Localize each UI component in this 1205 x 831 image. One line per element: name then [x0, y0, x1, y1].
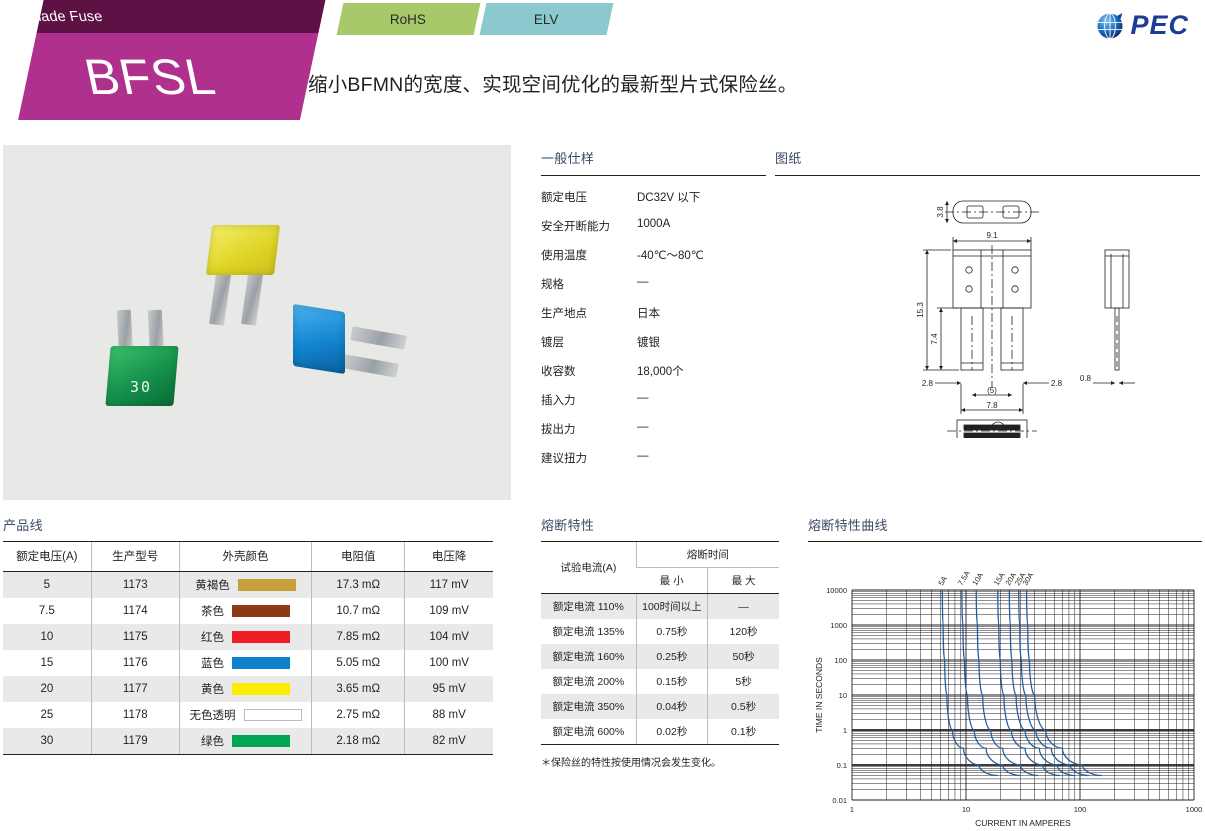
cell-min: 0.25秒: [636, 644, 707, 669]
cell-amp: 7.5: [3, 598, 91, 624]
cell-model: 1176: [91, 650, 179, 676]
fusing-title: 熔断特性: [541, 515, 779, 534]
spec-key: 镀层: [541, 334, 637, 350]
color-name: 无色透明: [190, 707, 236, 723]
fusing-thead: 试验电流(A) 熔断时间 最 小 最 大: [541, 542, 779, 594]
spec-row: 镀层 镀银: [541, 334, 766, 350]
spec-row: 插入力 —: [541, 392, 766, 408]
cell-min: 0.75秒: [636, 619, 707, 644]
table-row: 额定电流 200% 0.15秒 5秒: [541, 669, 779, 694]
technical-drawing: 图纸 3.8 9.1: [775, 148, 1200, 443]
cell-model: 1177: [91, 676, 179, 702]
spec-row: 生产地点 日本: [541, 305, 766, 321]
logo-text: PEC: [1130, 10, 1189, 41]
curve-rule: [808, 541, 1202, 542]
spec-value: -40℃～80℃: [637, 247, 704, 263]
product-photo: 30: [3, 145, 511, 500]
color-swatch: [232, 657, 290, 669]
dim-total-height: 15.3: [916, 302, 925, 318]
svg-text:100: 100: [834, 656, 847, 665]
spec-value: 18,000个: [637, 363, 684, 379]
svg-text:1: 1: [850, 805, 854, 814]
spec-row: 使用温度 -40℃～80℃: [541, 247, 766, 263]
product-line-tbody: 5 1173 黄褐色 17.3 mΩ 117 mV 7.5 1174 茶色 10…: [3, 572, 493, 755]
cell-current: 额定电流 110%: [541, 594, 636, 620]
yellow-fuse-leg-left: [209, 266, 232, 326]
spec-row: 拔出力 —: [541, 421, 766, 437]
table-row: 30 1179 绿色 2.18 mΩ 82 mV: [3, 728, 493, 755]
svg-text:7.5A: 7.5A: [956, 569, 972, 587]
table-row: 5 1173 黄褐色 17.3 mΩ 117 mV: [3, 572, 493, 599]
spec-value: —: [637, 421, 649, 437]
col-max: 最 大: [708, 568, 779, 594]
dim-leg-offset-left: 2.8: [922, 379, 934, 388]
spec-key: 使用温度: [541, 247, 637, 263]
green-fuse-body: [105, 346, 178, 406]
spec-key: 建议扭力: [541, 450, 637, 466]
cell-drop: 95 mV: [405, 676, 493, 702]
cell-color: 无色透明: [179, 702, 311, 728]
cell-model: 1175: [91, 624, 179, 650]
dim-leg-height: 7.4: [930, 333, 939, 345]
spec-key: 额定电压: [541, 189, 637, 205]
table-row: 额定电流 110% 100时间以上 —: [541, 594, 779, 620]
color-name: 黄褐色: [195, 577, 230, 593]
table-row: 20 1177 黄色 3.65 mΩ 95 mV: [3, 676, 493, 702]
spec-value: 镀银: [637, 334, 660, 350]
svg-text:10: 10: [962, 805, 970, 814]
cell-model: 1179: [91, 728, 179, 755]
cell-drop: 88 mV: [405, 702, 493, 728]
product-line-table: 额定电压(A) 生产型号 外壳颜色 电阻值 电压降 5 1173 黄褐色 17.…: [3, 542, 493, 755]
general-specifications: 一般仕样 额定电压 DC32V 以下 安全开断能力 1000A 使用温度 -40…: [541, 148, 766, 466]
specs-list: 额定电压 DC32V 以下 安全开断能力 1000A 使用温度 -40℃～80℃…: [541, 189, 766, 466]
col-color: 外壳颜色: [179, 542, 311, 572]
datasheet-page: Blade Fuse BFSL RoHS ELV 缩小BFMN的宽度、实现空间优…: [0, 0, 1205, 831]
cell-drop: 117 mV: [405, 572, 493, 599]
drawing-title: 图纸: [775, 148, 1200, 167]
badge-elv: ELV: [480, 3, 614, 35]
cell-max: 50秒: [708, 644, 779, 669]
dim-leg-offset-right: 2.8: [1051, 379, 1063, 388]
table-header-row: 额定电压(A) 生产型号 外壳颜色 电阻值 电压降: [3, 542, 493, 572]
yellow-fuse-leg-right: [241, 266, 264, 326]
badge-rohs: RoHS: [337, 3, 481, 35]
svg-text:0.1: 0.1: [837, 761, 847, 770]
fusing-table: 试验电流(A) 熔断时间 最 小 最 大 额定电流 110% 100时间以上 —…: [541, 542, 779, 745]
cell-resistance: 10.7 mΩ: [312, 598, 405, 624]
cell-current: 额定电流 350%: [541, 694, 636, 719]
svg-text:CURRENT IN AMPERES: CURRENT IN AMPERES: [975, 818, 1071, 828]
color-name: 绿色: [201, 733, 224, 749]
col-amp: 额定电压(A): [3, 542, 91, 572]
cell-max: 0.5秒: [708, 694, 779, 719]
table-row: 25 1178 无色透明 2.75 mΩ 88 mV: [3, 702, 493, 728]
svg-text:5A: 5A: [936, 574, 949, 587]
dim-thickness: 0.8: [1080, 374, 1092, 383]
table-row: 15 1176 蓝色 5.05 mΩ 100 mV: [3, 650, 493, 676]
cell-resistance: 2.75 mΩ: [312, 702, 405, 728]
spec-value: —: [637, 450, 649, 466]
col-min: 最 小: [636, 568, 707, 594]
blue-fuse-leg-lower: [342, 354, 399, 377]
badge-elv-label: ELV: [534, 12, 559, 27]
cell-min: 0.02秒: [636, 719, 707, 745]
spec-key: 拔出力: [541, 421, 637, 437]
table-row: 额定电流 135% 0.75秒 120秒: [541, 619, 779, 644]
drawing-svg: 3.8 9.1: [775, 188, 1200, 438]
svg-text:0.01: 0.01: [832, 796, 847, 805]
cell-drop: 109 mV: [405, 598, 493, 624]
svg-text:10: 10: [839, 691, 847, 700]
badge-rohs-label: RoHS: [390, 12, 426, 27]
col-drop: 电压降: [405, 542, 493, 572]
fusing-note: ＊保险丝的特性按使用情况会发生变化。: [541, 754, 779, 769]
color-name: 茶色: [201, 603, 224, 619]
drawing-rule: [775, 175, 1200, 176]
page-header: Blade Fuse BFSL RoHS ELV 缩小BFMN的宽度、实现空间优…: [0, 0, 1205, 122]
cell-max: 5秒: [708, 669, 779, 694]
spec-value: DC32V 以下: [637, 189, 700, 205]
cell-max: 120秒: [708, 619, 779, 644]
color-name: 黄色: [201, 681, 224, 697]
fusing-characteristics-section: 熔断特性 试验电流(A) 熔断时间 最 小 最 大 额定电流 110% 100时…: [541, 515, 779, 769]
cell-current: 额定电流 200%: [541, 669, 636, 694]
cell-amp: 10: [3, 624, 91, 650]
cell-drop: 100 mV: [405, 650, 493, 676]
cell-color: 茶色: [179, 598, 311, 624]
cell-min: 0.15秒: [636, 669, 707, 694]
yellow-fuse-body: [206, 225, 280, 275]
product-line-section: 产品线 额定电压(A) 生产型号 外壳颜色 电阻值 电压降 5 1173 黄褐色…: [3, 515, 493, 755]
cell-model: 1173: [91, 572, 179, 599]
banner-kicker: Blade Fuse: [0, 0, 286, 33]
table-header-row: 试验电流(A) 熔断时间: [541, 542, 779, 568]
product-line-title: 产品线: [3, 515, 493, 534]
dim-leg-gap: (5): [987, 386, 997, 395]
cell-resistance: 17.3 mΩ: [312, 572, 405, 599]
cell-resistance: 7.85 mΩ: [312, 624, 405, 650]
color-swatch: [232, 735, 290, 747]
cell-amp: 15: [3, 650, 91, 676]
table-row: 额定电流 160% 0.25秒 50秒: [541, 644, 779, 669]
spec-key: 生产地点: [541, 305, 637, 321]
cell-model: 1178: [91, 702, 179, 728]
cell-amp: 5: [3, 572, 91, 599]
cell-min: 0.04秒: [636, 694, 707, 719]
cell-color: 黄色: [179, 676, 311, 702]
cell-color: 蓝色: [179, 650, 311, 676]
spec-key: 安全开断能力: [541, 218, 637, 234]
svg-text:TIME IN SECONDS: TIME IN SECONDS: [814, 657, 824, 733]
curve-section: 熔断特性曲线 0.010.11101001000100001101001000C…: [808, 515, 1202, 831]
color-swatch: [232, 631, 290, 643]
color-swatch: [232, 683, 290, 695]
color-swatch: [244, 709, 302, 721]
table-row: 10 1175 红色 7.85 mΩ 104 mV: [3, 624, 493, 650]
spec-value: 1000A: [637, 218, 670, 234]
col-model: 生产型号: [91, 542, 179, 572]
col-test-current: 试验电流(A): [541, 542, 636, 594]
table-row: 额定电流 600% 0.02秒 0.1秒: [541, 719, 779, 745]
company-logo: PEC: [1095, 10, 1189, 41]
color-name: 蓝色: [201, 655, 224, 671]
cell-max: 0.1秒: [708, 719, 779, 745]
blue-fuse-leg-upper: [350, 326, 407, 349]
dim-top-height: 3.8: [936, 206, 945, 218]
svg-text:1000: 1000: [1186, 805, 1202, 814]
cell-min: 100时间以上: [636, 594, 707, 620]
spec-key: 规格: [541, 276, 637, 292]
svg-text:1000: 1000: [830, 621, 847, 630]
dim-width: 9.1: [986, 231, 998, 240]
cell-color: 绿色: [179, 728, 311, 755]
spec-row: 建议扭力 —: [541, 450, 766, 466]
curve-title: 熔断特性曲线: [808, 515, 1202, 534]
table-row: 额定电流 350% 0.04秒 0.5秒: [541, 694, 779, 719]
spec-row: 收容数 18,000个: [541, 363, 766, 379]
cell-resistance: 3.65 mΩ: [312, 676, 405, 702]
spec-value: 日本: [637, 305, 660, 321]
product-subtitle: 缩小BFMN的宽度、实现空间优化的最新型片式保险丝。: [308, 68, 797, 97]
cell-current: 额定电流 135%: [541, 619, 636, 644]
col-resistance: 电阻值: [312, 542, 405, 572]
blue-fuse-body: [293, 304, 345, 374]
col-fusing-time: 熔断时间: [636, 542, 779, 568]
cell-color: 黄褐色: [179, 572, 311, 599]
spec-row: 额定电压 DC32V 以下: [541, 189, 766, 205]
cell-drop: 82 mV: [405, 728, 493, 755]
svg-text:10A: 10A: [970, 571, 985, 587]
cell-resistance: 5.05 mΩ: [312, 650, 405, 676]
cell-current: 额定电流 160%: [541, 644, 636, 669]
table-row: 7.5 1174 茶色 10.7 mΩ 109 mV: [3, 598, 493, 624]
dim-leg-span: 7.8: [986, 401, 998, 410]
color-swatch: [232, 605, 290, 617]
cell-color: 红色: [179, 624, 311, 650]
svg-text:100: 100: [1074, 805, 1087, 814]
color-name: 红色: [201, 629, 224, 645]
svg-text:1: 1: [843, 726, 847, 735]
spec-value: —: [637, 276, 649, 292]
specs-rule: [541, 175, 766, 176]
spec-key: 插入力: [541, 392, 637, 408]
time-current-curve-chart: 0.010.11101001000100001101001000CURRENT …: [808, 552, 1202, 831]
cell-amp: 25: [3, 702, 91, 728]
cell-drop: 104 mV: [405, 624, 493, 650]
specs-title: 一般仕样: [541, 148, 766, 167]
globe-icon: [1095, 11, 1125, 41]
color-swatch: [238, 579, 296, 591]
page-title: BFSL: [0, 33, 291, 120]
spec-value: —: [637, 392, 649, 408]
spec-row: 安全开断能力 1000A: [541, 218, 766, 234]
cell-max: —: [708, 594, 779, 620]
product-line-thead: 额定电压(A) 生产型号 外壳颜色 电阻值 电压降: [3, 542, 493, 572]
spec-key: 收容数: [541, 363, 637, 379]
cell-current: 额定电流 600%: [541, 719, 636, 745]
spec-row: 规格 —: [541, 276, 766, 292]
cell-amp: 20: [3, 676, 91, 702]
cell-model: 1174: [91, 598, 179, 624]
cell-amp: 30: [3, 728, 91, 755]
svg-text:10000: 10000: [826, 586, 847, 595]
green-fuse-rating: 30: [130, 378, 152, 396]
fusing-tbody: 额定电流 110% 100时间以上 — 额定电流 135% 0.75秒 120秒…: [541, 594, 779, 745]
cell-resistance: 2.18 mΩ: [312, 728, 405, 755]
